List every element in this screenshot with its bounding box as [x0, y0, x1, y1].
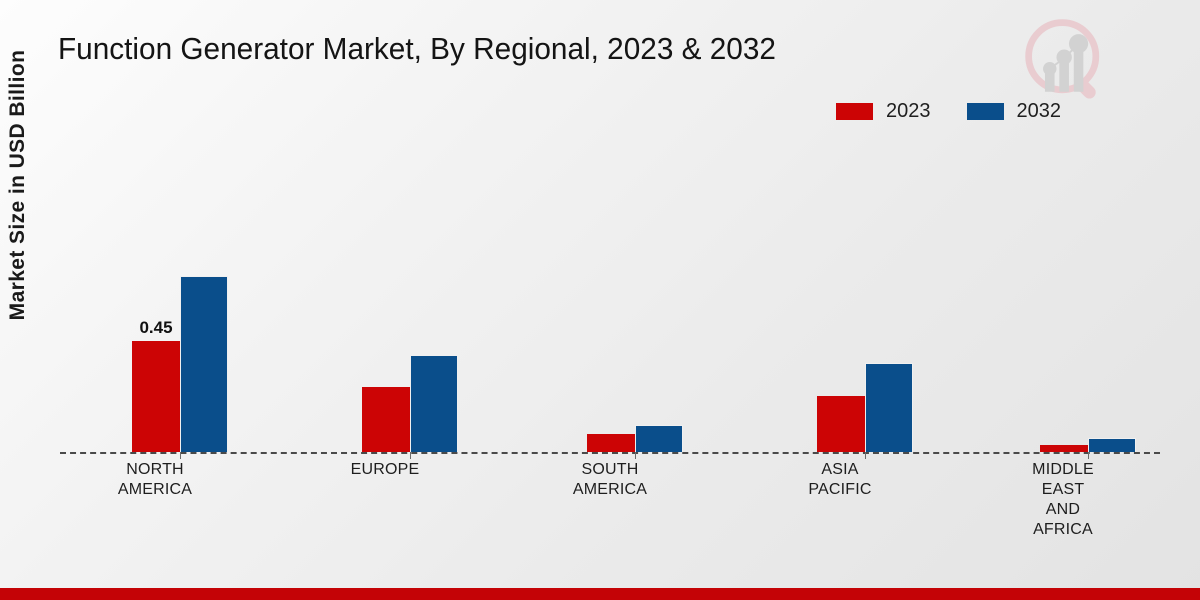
y-axis-title: Market Size in USD Billion — [6, 5, 30, 365]
category-label-middle-east-africa: MIDDLE EAST AND AFRICA — [1032, 460, 1094, 540]
x-axis-baseline — [60, 452, 1160, 454]
bar-europe-2032[interactable] — [410, 355, 458, 452]
page-title: Function Generator Market, By Regional, … — [58, 31, 776, 67]
legend-item-2032[interactable]: 2032 — [967, 101, 1062, 121]
bar-asia-pacific-2023[interactable] — [817, 396, 865, 452]
legend-item-2023[interactable]: 2023 — [836, 101, 931, 121]
bar-group-middle-east-africa — [1039, 150, 1137, 452]
axis-tick — [410, 452, 411, 459]
bar-middle-east-africa-2023[interactable] — [1040, 445, 1088, 452]
legend-label-2032: 2032 — [1017, 101, 1062, 121]
chart-legend: 2023 2032 — [836, 101, 1061, 121]
bar-europe-2023[interactable] — [362, 387, 410, 452]
bar-north-america-2032[interactable] — [180, 276, 228, 452]
bar-middle-east-africa-2032[interactable] — [1088, 438, 1136, 452]
axis-tick — [635, 452, 636, 459]
bar-group-south-america — [586, 150, 684, 452]
legend-swatch-2032 — [967, 103, 1004, 120]
legend-swatch-2023 — [836, 103, 873, 120]
category-label-asia-pacific: ASIA PACIFIC — [808, 460, 871, 500]
category-label-north-america: NORTH AMERICA — [118, 460, 192, 500]
bar-north-america-2023[interactable]: 0.45 — [132, 341, 180, 452]
bar-south-america-2023[interactable] — [587, 434, 635, 452]
bar-group-north-america: 0.45 — [131, 150, 229, 452]
bar-group-asia-pacific — [816, 150, 914, 452]
bar-group-europe — [361, 150, 459, 452]
axis-tick — [1088, 452, 1089, 459]
bar-value-label: 0.45 — [139, 318, 172, 338]
axis-tick — [865, 452, 866, 459]
magnifier-bar-chart-logo-icon — [1020, 14, 1116, 110]
plot-area: 0.45 — [60, 150, 1160, 452]
legend-label-2023: 2023 — [886, 101, 931, 121]
chart-canvas: Function Generator Market, By Regional, … — [0, 0, 1200, 600]
axis-tick — [180, 452, 181, 459]
bottom-accent-strip — [0, 588, 1200, 600]
bar-south-america-2032[interactable] — [635, 425, 683, 452]
category-label-europe: EUROPE — [351, 460, 420, 480]
category-label-south-america: SOUTH AMERICA — [573, 460, 647, 500]
bar-asia-pacific-2032[interactable] — [865, 363, 913, 452]
